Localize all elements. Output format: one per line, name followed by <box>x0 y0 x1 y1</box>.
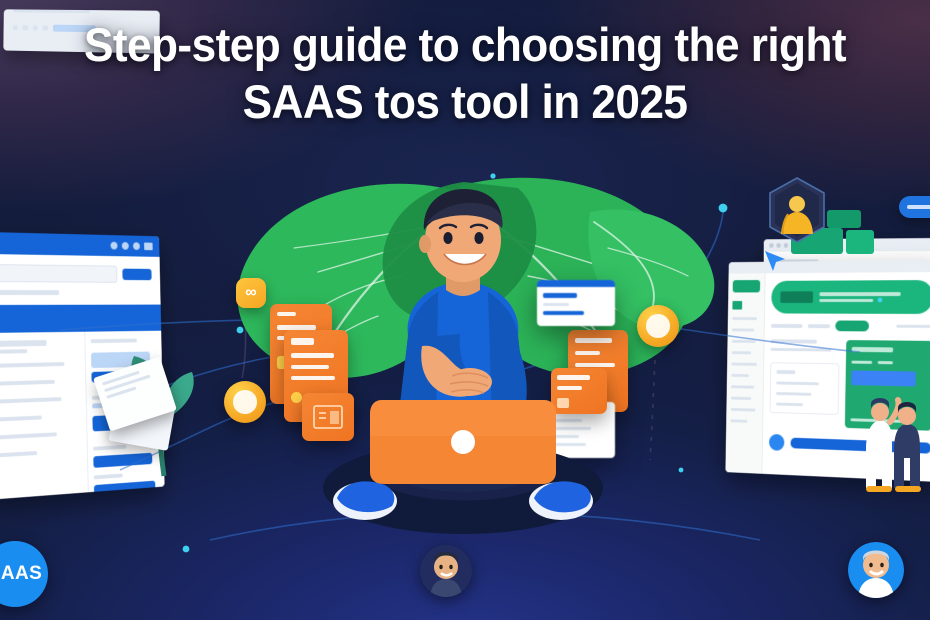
infinity-icon: ∞ <box>245 285 256 301</box>
hero-banner: ∞ <box>0 0 930 620</box>
top-right-pill-button[interactable] <box>899 196 930 218</box>
headline-line-1: Step-step guide to choosing the right <box>28 16 902 73</box>
right-green-tile-b <box>846 230 874 254</box>
headline-line-2: SAAS tos tool in 2025 <box>28 73 902 130</box>
coin-inner-right <box>646 314 670 338</box>
right-people-illustration <box>862 368 930 498</box>
pill-label-line <box>907 205 930 209</box>
right-green-tile-c <box>827 210 861 228</box>
avatar-right-bottom[interactable] <box>848 542 904 598</box>
hex-avatar-badge <box>766 176 828 244</box>
coin-left-lower[interactable] <box>224 381 266 423</box>
coin-inner-left <box>233 390 257 414</box>
seated-man-with-laptop <box>318 186 608 546</box>
avatar-center-face <box>420 545 472 597</box>
page-title: Step-step guide to choosing the right SA… <box>0 16 930 130</box>
cursor-arrow-icon <box>762 248 788 274</box>
saas-badge-label: SAAS <box>0 563 42 585</box>
avatar-center-bottom[interactable] <box>420 545 472 597</box>
badge-square-left[interactable]: ∞ <box>236 278 266 308</box>
avatar-right-face <box>848 542 904 598</box>
coin-right-center[interactable] <box>637 305 679 347</box>
